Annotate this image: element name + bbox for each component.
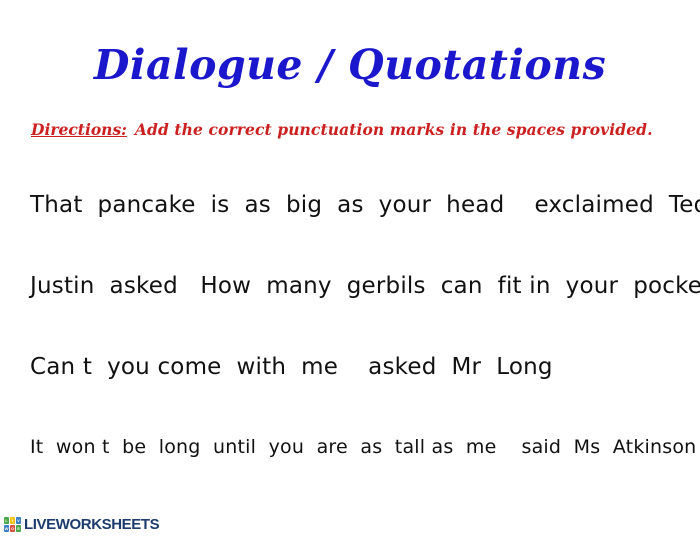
logo-cell-6: S: [16, 525, 21, 532]
logo-cell-4: W: [4, 525, 9, 532]
logo-cell-2: I: [10, 517, 15, 524]
liveworksheets-mark-icon: L I V W O S: [4, 517, 21, 532]
logo-cell-1: L: [4, 517, 9, 524]
liveworksheets-logo[interactable]: L I V W O S LIVEWORKSHEETS: [4, 517, 159, 532]
exercise-sentence-3[interactable]: Can t you come with me asked Mr Long: [30, 355, 553, 380]
logo-cell-5: O: [10, 525, 15, 532]
liveworksheets-wordmark: LIVEWORKSHEETS: [24, 517, 159, 532]
exercise-sentence-1[interactable]: That pancake is as big as your head excl…: [30, 193, 700, 218]
directions-line: Directions:Add the correct punctuation m…: [31, 121, 653, 140]
exercise-sentence-4[interactable]: It won t be long until you are as tall a…: [30, 437, 696, 458]
directions-text: Add the correct punctuation marks in the…: [135, 120, 653, 139]
worksheet-page: Dialogue / Quotations Directions:Add the…: [0, 0, 700, 540]
exercise-sentence-2[interactable]: Justin asked How many gerbils can fit in…: [30, 274, 700, 299]
directions-label: Directions:: [31, 120, 127, 139]
page-title: Dialogue / Quotations: [0, 44, 700, 87]
logo-cell-3: V: [16, 517, 21, 524]
